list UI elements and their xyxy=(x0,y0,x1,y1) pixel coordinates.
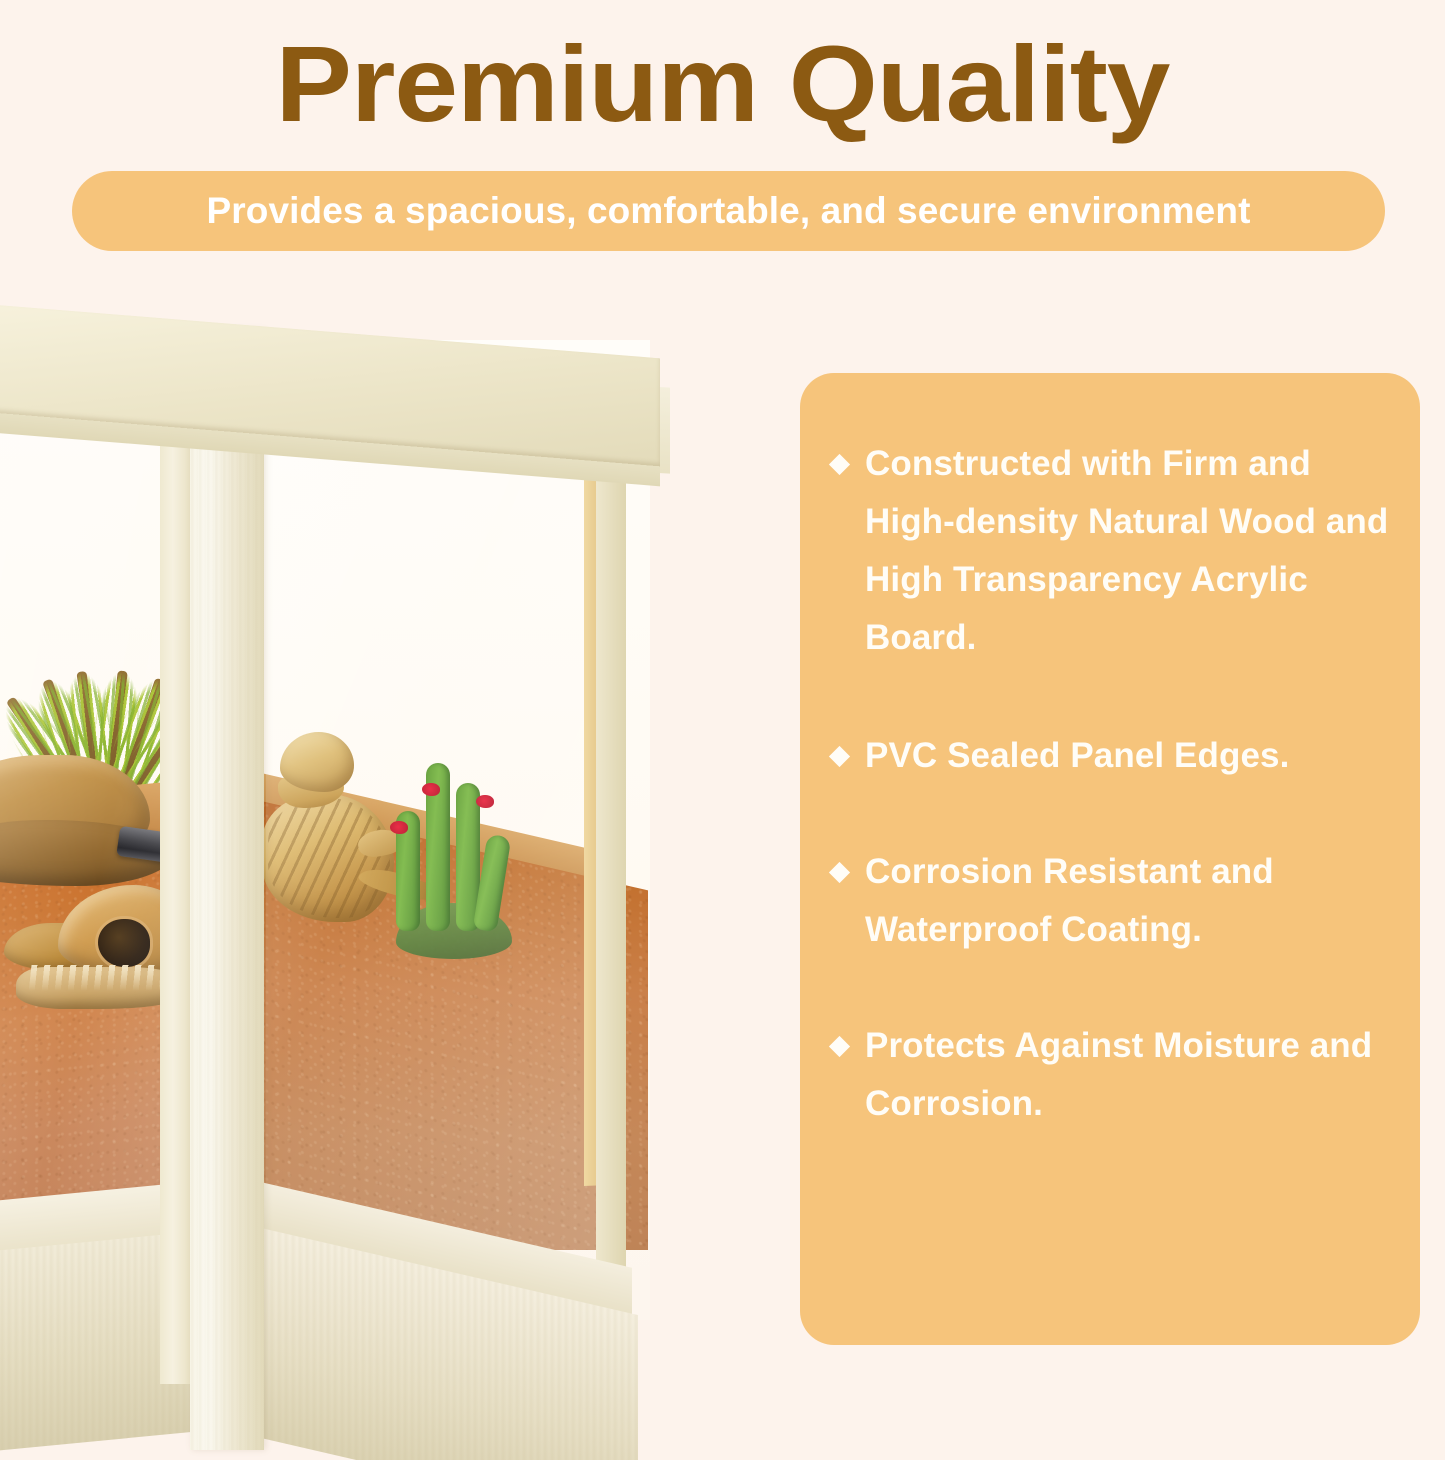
feature-bullet-text: Constructed with Firm and High-density N… xyxy=(865,435,1394,667)
feature-bullet-text: Protects Against Moisture and Corrosion. xyxy=(865,1017,1394,1133)
skull-teeth xyxy=(29,965,182,991)
wood-front-corner-post xyxy=(190,330,264,1450)
cactus-flower xyxy=(476,795,494,808)
feature-bullet-text: PVC Sealed Panel Edges. xyxy=(865,727,1394,785)
diamond-bullet-icon xyxy=(829,746,850,767)
feature-bullet-item: Constructed with Firm and High-density N… xyxy=(828,435,1394,667)
page-title: Premium Quality xyxy=(0,28,1445,140)
cactus-flower xyxy=(422,783,440,796)
product-photo xyxy=(0,300,670,1460)
subtitle-banner-text: Provides a spacious, comfortable, and se… xyxy=(207,190,1251,232)
diamond-bullet-icon xyxy=(829,862,850,883)
feature-bullet-text: Corrosion Resistant and Waterproof Coati… xyxy=(865,843,1394,959)
feature-panel: Constructed with Firm and High-density N… xyxy=(800,373,1420,1345)
feature-bullet-item: Protects Against Moisture and Corrosion. xyxy=(828,1017,1394,1133)
diamond-bullet-icon xyxy=(829,1036,850,1057)
cactus-plant xyxy=(388,755,518,965)
wood-side-inner-rail xyxy=(584,436,596,1186)
feature-bullet-list: Constructed with Firm and High-density N… xyxy=(828,435,1394,1133)
skull-eye-socket xyxy=(98,919,150,967)
feature-bullet-item: Corrosion Resistant and Waterproof Coati… xyxy=(828,843,1394,959)
cactus-flower xyxy=(390,821,408,834)
diamond-bullet-icon xyxy=(829,454,850,475)
feature-bullet-item: PVC Sealed Panel Edges. xyxy=(828,727,1394,785)
subtitle-banner: Provides a spacious, comfortable, and se… xyxy=(72,171,1385,251)
infographic-root: Premium Quality Provides a spacious, com… xyxy=(0,0,1445,1445)
wood-rear-post xyxy=(160,324,192,1384)
